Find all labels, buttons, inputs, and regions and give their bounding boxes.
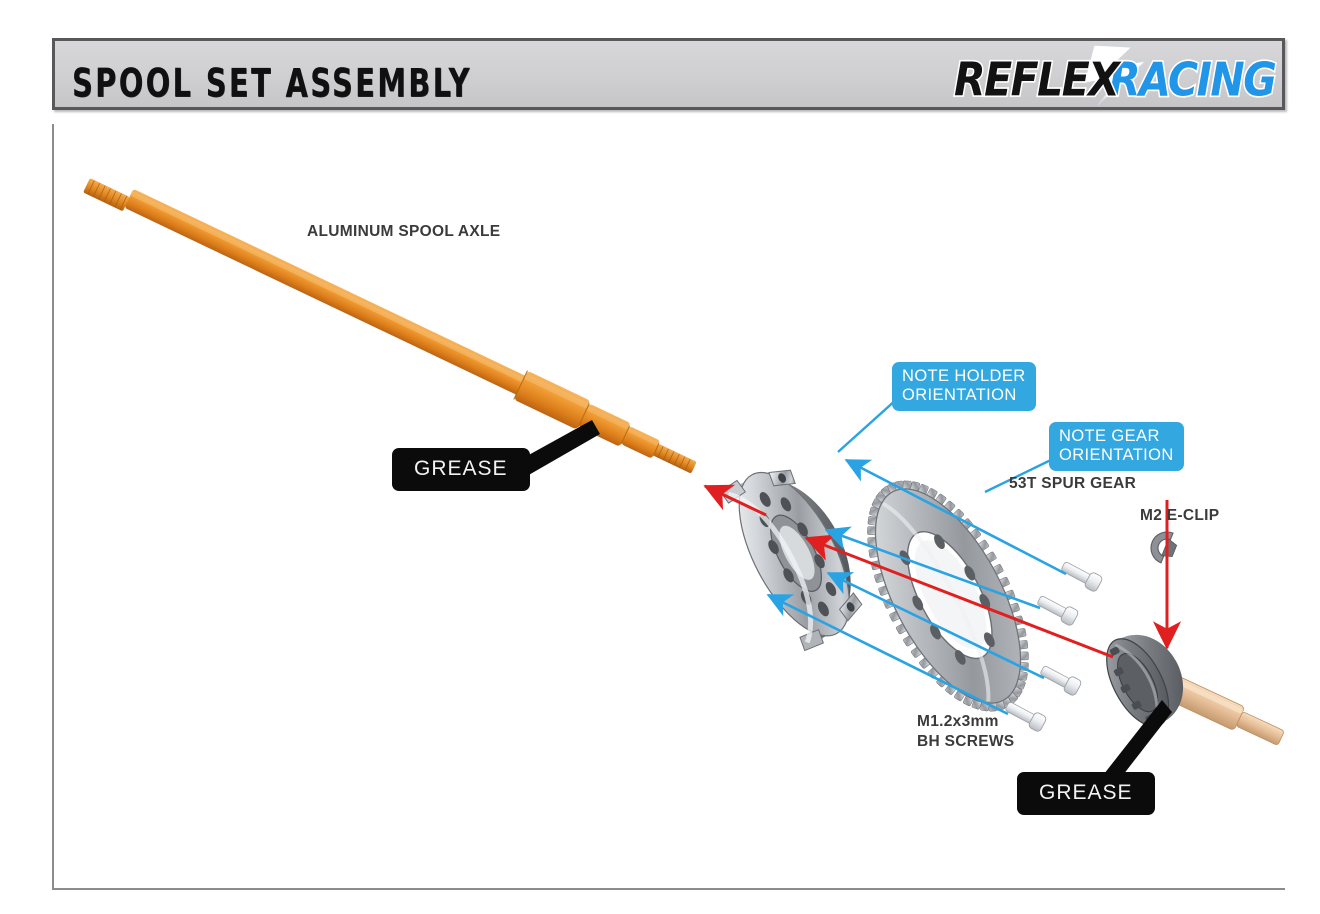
grease-tag-end-hub: GREASE [1017,772,1155,815]
label-bh-screws: M1.2x3mm BH SCREWS [917,712,1014,752]
label-m2-eclip: M2 E-CLIP [1140,506,1219,526]
page-title: SPOOL SET ASSEMBLY [72,60,472,106]
grease-tag-axle: GREASE [392,448,530,491]
instruction-sheet: SPOOL SET ASSEMBLY REFLEX RACING [0,0,1320,914]
logo-text-reflex: REFLEX [954,53,1118,107]
logo-text-racing: RACING [1109,53,1275,107]
label-aluminum-spool-axle: ALUMINUM SPOOL AXLE [307,222,500,242]
reflex-racing-logo: REFLEX RACING [946,45,1276,105]
callout-note-gear-orientation: NOTE GEAR ORIENTATION [1049,422,1184,471]
label-spur-gear: 53T SPUR GEAR [1009,474,1136,494]
callout-note-holder-orientation: NOTE HOLDER ORIENTATION [892,362,1036,411]
